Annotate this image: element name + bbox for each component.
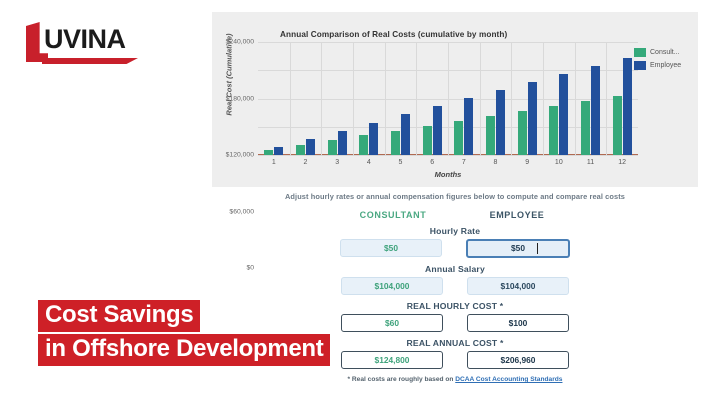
chart-bar: [528, 82, 537, 155]
chart-gridline: $0: [258, 155, 638, 156]
chart-bar: [369, 123, 378, 155]
chart-x-axis-label: Months: [258, 170, 638, 179]
input-annual-salary-consultant[interactable]: $104,000: [341, 277, 443, 295]
chart-bar: [559, 74, 568, 155]
chart-bar: [274, 147, 283, 155]
row-label-hourly-rate: Hourly Rate: [212, 226, 698, 236]
chart-panel: Annual Comparison of Real Costs (cumulat…: [212, 12, 698, 187]
chart-title: Annual Comparison of Real Costs (cumulat…: [280, 30, 507, 39]
input-annual-salary-employee[interactable]: $104,000: [467, 277, 569, 295]
value-real-annual-cost-consultant: $124,800: [341, 351, 443, 369]
chart-bar: [359, 135, 368, 155]
chart-x-tick-label: 6: [430, 159, 434, 166]
chart-bar: [518, 111, 527, 155]
dcaa-standards-link[interactable]: DCAA Cost Accounting Standards: [455, 376, 562, 383]
chart-plot-area: $0$60,000$120,000$180,000$240,0001234567…: [258, 42, 638, 155]
chart-bar: [549, 106, 558, 155]
chart-x-tick-label: 8: [494, 159, 498, 166]
promo-banner: Cost Savings in Offshore Development: [38, 300, 330, 366]
chart-bar: [623, 58, 632, 155]
column-header-consultant: CONSULTANT: [343, 210, 443, 220]
chart-bar: [423, 126, 432, 155]
chart-bar: [464, 98, 473, 155]
chart-bar-group: 6: [416, 106, 448, 155]
chart-bar-group: 3: [321, 131, 353, 155]
banner-line-2: in Offshore Development: [38, 334, 330, 366]
column-header-employee: EMPLOYEE: [467, 210, 567, 220]
chart-y-tick-label: $240,000: [226, 39, 254, 46]
chart-x-tick-label: 4: [367, 159, 371, 166]
chart-y-tick-label: $180,000: [226, 95, 254, 102]
chart-bar-group: 2: [290, 139, 322, 155]
logo-underline-bar: [42, 58, 138, 64]
chart-bar: [496, 90, 505, 155]
chart-x-tick-label: 12: [618, 159, 626, 166]
chart-bar-group: 1: [258, 147, 290, 155]
input-hourly-rate-consultant[interactable]: $50: [340, 239, 442, 257]
column-headers: CONSULTANT EMPLOYEE: [212, 210, 698, 220]
chart-x-tick-label: 11: [587, 159, 594, 166]
chart-legend-label: Consult...: [650, 49, 680, 56]
chart-bar: [486, 116, 495, 155]
chart-bar: [338, 131, 347, 155]
chart-x-tick-label: 9: [525, 159, 529, 166]
chart-bar-group: 7: [448, 98, 480, 155]
chart-bar: [296, 145, 305, 155]
chart-bar-group: 5: [385, 114, 417, 155]
chart-legend-item[interactable]: Consult...: [634, 48, 690, 57]
chart-bar-group: 10: [543, 74, 575, 155]
chart-bar: [264, 150, 273, 155]
banner-line-1: Cost Savings: [38, 300, 200, 332]
chart-legend-swatch: [634, 61, 646, 70]
row-label-annual-salary: Annual Salary: [212, 264, 698, 274]
chart-x-tick-label: 10: [555, 159, 563, 166]
input-hourly-rate-employee[interactable]: $50: [466, 239, 570, 258]
chart-bar: [306, 139, 315, 155]
chart-bar: [401, 114, 410, 155]
chart-bar: [581, 101, 590, 155]
chart-bar-group: 11: [575, 66, 607, 155]
chart-legend-label: Employee: [650, 62, 681, 69]
chart-bar: [454, 121, 463, 155]
chart-bar-group: 4: [353, 123, 385, 155]
chart-legend-item[interactable]: Employee: [634, 61, 690, 70]
chart-bar: [591, 66, 600, 155]
chart-bar: [433, 106, 442, 155]
chart-x-tick-label: 5: [399, 159, 403, 166]
logo-wordmark: UVINA: [44, 24, 126, 55]
chart-bar: [613, 96, 622, 155]
chart-y-tick-label: $120,000: [226, 152, 254, 159]
chart-bar: [391, 131, 400, 155]
adjust-instruction-text: Adjust hourly rates or annual compensati…: [212, 192, 698, 201]
chart-x-tick-label: 3: [335, 159, 339, 166]
luvina-logo: UVINA: [16, 18, 141, 64]
value-real-hourly-cost-employee: $100: [467, 314, 569, 332]
footnote-text: * Real costs are roughly based on: [348, 376, 456, 383]
chart-legend: Consult...Employee: [634, 48, 690, 74]
chart-bar-group: 8: [480, 90, 512, 155]
chart-x-tick-label: 2: [304, 159, 308, 166]
row-hourly-rate: $50 $50: [212, 239, 698, 258]
chart-bar: [328, 140, 337, 155]
value-real-hourly-cost-consultant: $60: [341, 314, 443, 332]
chart-x-tick-label: 1: [272, 159, 276, 166]
row-annual-salary: $104,000 $104,000: [212, 277, 698, 295]
chart-x-tick-label: 7: [462, 159, 466, 166]
value-real-annual-cost-employee: $206,960: [467, 351, 569, 369]
chart-bar-group: 9: [511, 82, 543, 155]
footnote: * Real costs are roughly based on DCAA C…: [212, 376, 698, 383]
chart-legend-swatch: [634, 48, 646, 57]
